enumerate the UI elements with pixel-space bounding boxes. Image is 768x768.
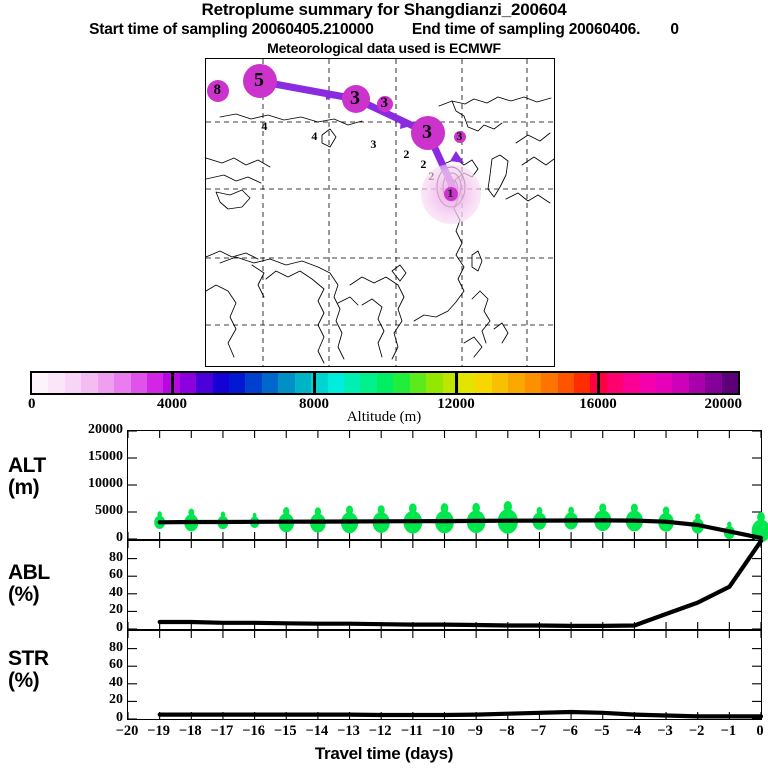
colorbar-swatch (180, 373, 196, 393)
alt-cluster-marker (409, 503, 417, 513)
colorbar-separator (455, 371, 458, 395)
end-time-label: End time of sampling (412, 21, 565, 38)
colorbar-swatch (393, 373, 409, 393)
colorbar-swatch (705, 373, 721, 393)
y-tick-label: 20 (49, 693, 123, 707)
trajectory-day-label: 3 (370, 138, 376, 150)
panel-str[interactable] (127, 630, 762, 720)
colorbar-swatch (245, 373, 261, 393)
panel-row-unit: (%) (8, 584, 100, 606)
y-tick-label: 5000 (49, 504, 123, 518)
colorbar-swatch (508, 373, 524, 393)
trajectory-day-label: 2 (420, 158, 426, 170)
alt-cluster-marker (315, 507, 321, 515)
alt-cluster-marker (378, 505, 385, 514)
altitude-colorbar[interactable] (30, 371, 740, 395)
colorbar-swatch (459, 373, 475, 393)
trajectory-day-label: 3 (350, 88, 360, 108)
trajectory-day-label: 4 (311, 130, 317, 142)
trajectory-day-label: 3 (381, 96, 389, 111)
colorbar-swatch (623, 373, 639, 393)
colorbar-swatch (65, 373, 81, 393)
timeseries-plots (127, 430, 762, 720)
trajectory-day-label: 3 (456, 130, 462, 142)
colorbar-swatch (492, 373, 508, 393)
x-tick-label: 0 (740, 723, 768, 740)
colorbar-separator (171, 371, 174, 395)
panel-abl[interactable] (127, 540, 762, 630)
alt-plot-svg (128, 431, 761, 539)
alt-cluster-marker (441, 503, 449, 513)
panel-row-label: ALT (8, 455, 100, 477)
colorbar-separator (597, 371, 600, 395)
y-tick-label: 0 (49, 531, 123, 545)
end-time-value: 20060406. (569, 21, 640, 38)
colorbar-swatch (360, 373, 376, 393)
colorbar-swatch (410, 373, 426, 393)
colorbar-swatch (607, 373, 623, 393)
retroplume-map[interactable]: 8543343233221 (205, 58, 555, 367)
panel-row-label: STR (8, 648, 100, 670)
trajectory-day-label: 2 (428, 170, 434, 182)
alt-cluster-marker (504, 501, 512, 512)
colorbar-swatch (328, 373, 344, 393)
panel-row-unit: (m) (8, 477, 100, 499)
alt-cluster-marker (663, 507, 669, 515)
y-tick-label: 0 (49, 621, 123, 635)
colorbar-swatch (377, 373, 393, 393)
colorbar-swatch (525, 373, 541, 393)
colorbar-swatch (196, 373, 212, 393)
abl-plot-svg (128, 541, 761, 629)
colorbar-swatch (558, 373, 574, 393)
colorbar-swatch (426, 373, 442, 393)
start-time-value: 20060405.210000 (252, 21, 374, 38)
colorbar-swatch (722, 373, 738, 393)
colorbar-swatch (344, 373, 360, 393)
sampling-time-line: Start time of sampling 20060405.210000 E… (0, 20, 768, 39)
panel-row-unit: (%) (8, 670, 100, 692)
colorbar-swatch (131, 373, 147, 393)
colorbar-swatch (213, 373, 229, 393)
colorbar-swatch (689, 373, 705, 393)
colorbar-swatch (278, 373, 294, 393)
colorbar-swatch (114, 373, 130, 393)
abl-series-line (160, 541, 761, 626)
colorbar-swatch (541, 373, 557, 393)
alt-cluster-marker (599, 503, 606, 512)
panel-row-label: ABL (8, 562, 100, 584)
alt-cluster-marker (727, 522, 731, 528)
colorbar-swatch (98, 373, 114, 393)
alt-cluster-marker (188, 509, 194, 517)
colorbar-swatch (147, 373, 163, 393)
trajectory-day-label: 8 (214, 83, 222, 98)
colorbar-swatch (640, 373, 656, 393)
trajectory-day-label: 2 (403, 148, 409, 160)
coastline-paths (206, 97, 554, 363)
colorbar-swatch (672, 373, 688, 393)
alt-cluster-marker (695, 513, 700, 520)
trajectory-day-label: 4 (261, 120, 267, 132)
alt-cluster-marker (346, 506, 353, 515)
y-tick-label: 20000 (49, 423, 123, 437)
alt-cluster-marker (283, 507, 289, 515)
colorbar-swatch (656, 373, 672, 393)
alt-cluster-marker (631, 504, 638, 513)
report-title: Retroplume summary for Shangdianzi_20060… (0, 0, 768, 20)
alt-cluster-marker (757, 512, 765, 522)
alt-cluster-marker (221, 512, 225, 518)
colorbar-swatch (81, 373, 97, 393)
end-time-extra: 0 (670, 21, 678, 38)
start-time-label: Start time of sampling (89, 21, 247, 38)
alt-cluster-marker (157, 511, 161, 517)
alt-cluster-marker (568, 507, 574, 515)
colorbar-swatch (32, 373, 48, 393)
colorbar-swatch (574, 373, 590, 393)
str-plot-svg (128, 631, 761, 719)
trajectory-day-label: 5 (254, 70, 264, 90)
alt-cluster-marker (472, 503, 480, 513)
panel-alt[interactable] (127, 430, 762, 540)
colorbar-swatch (229, 373, 245, 393)
colorbar-swatch (262, 373, 278, 393)
page-title: Retroplume summary for Shangdianzi_20060… (0, 0, 768, 57)
colorbar-swatch (475, 373, 491, 393)
xaxis-title: Travel time (days) (0, 744, 768, 764)
str-series-line (160, 712, 761, 716)
alt-cluster-marker (253, 513, 257, 518)
colorbar-swatch (295, 373, 311, 393)
colorbar-swatch (48, 373, 64, 393)
met-data-line: Meteorological data used is ECMWF (0, 39, 768, 57)
colorbar-separator (313, 371, 316, 395)
trajectory-day-label: 3 (422, 122, 432, 142)
alt-cluster-marker (537, 507, 543, 515)
trajectory-day-label: 1 (447, 187, 453, 199)
